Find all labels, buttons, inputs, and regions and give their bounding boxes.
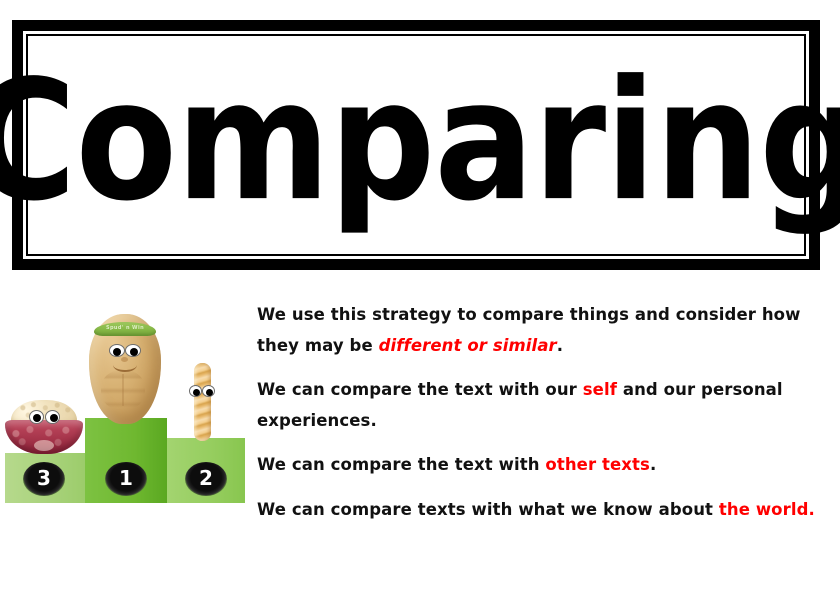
podium-medal-first: 1 (105, 462, 147, 496)
pasta-spiral-body (194, 363, 211, 441)
title-banner-inner: Comparing (26, 34, 806, 256)
text-segment: We can compare the text with (257, 455, 545, 474)
potato-left-eye-icon (109, 344, 125, 357)
podium-medal-third: 3 (23, 462, 65, 496)
paragraph-text-to-world: We can compare texts with what we know a… (257, 495, 817, 526)
text-segment: We can compare the text with our (257, 380, 583, 399)
bowl-vessel (5, 420, 83, 454)
text-segment: We can compare texts with what we know a… (257, 500, 719, 519)
bowl-medallion (34, 440, 54, 451)
podium-place-number-third: 3 (37, 468, 51, 488)
bowl-right-eye-icon (45, 410, 60, 424)
text-segment: other texts (545, 455, 650, 474)
text-segment: self (583, 380, 617, 399)
title-banner-frame: Comparing (12, 20, 820, 270)
podium-place-number-second: 2 (199, 468, 213, 488)
potato-character: Spud' n Win (85, 314, 165, 426)
paragraph-text-to-text: We can compare the text with other texts… (257, 450, 817, 481)
bowl-left-eye-icon (29, 410, 44, 424)
podium-illustration: Spud' n Win 3 1 2 (0, 300, 250, 515)
page-title: Comparing (0, 58, 840, 224)
headband-text: Spud' n Win (94, 325, 156, 331)
pasta-right-eye-icon (202, 385, 215, 397)
potato-right-eye-icon (125, 344, 141, 357)
strategy-description: We use this strategy to compare things a… (257, 300, 817, 525)
potato-nose (121, 357, 128, 362)
text-segment: different or similar (379, 336, 557, 355)
fusilli-pasta-character (186, 363, 218, 443)
podium-place-number-first: 1 (119, 468, 133, 488)
podium-medal-second: 2 (185, 462, 227, 496)
text-segment: . (650, 455, 656, 474)
paragraph-text-to-self: We can compare the text with our self an… (257, 375, 817, 436)
paragraph-strategy-definition: We use this strategy to compare things a… (257, 300, 817, 361)
pasta-left-eye-icon (189, 385, 202, 397)
potato-abs-shading (101, 370, 145, 410)
text-segment: . (557, 336, 563, 355)
text-segment: the world. (719, 500, 815, 519)
cereal-bowl-character (5, 400, 83, 458)
potato-headband: Spud' n Win (94, 322, 156, 336)
